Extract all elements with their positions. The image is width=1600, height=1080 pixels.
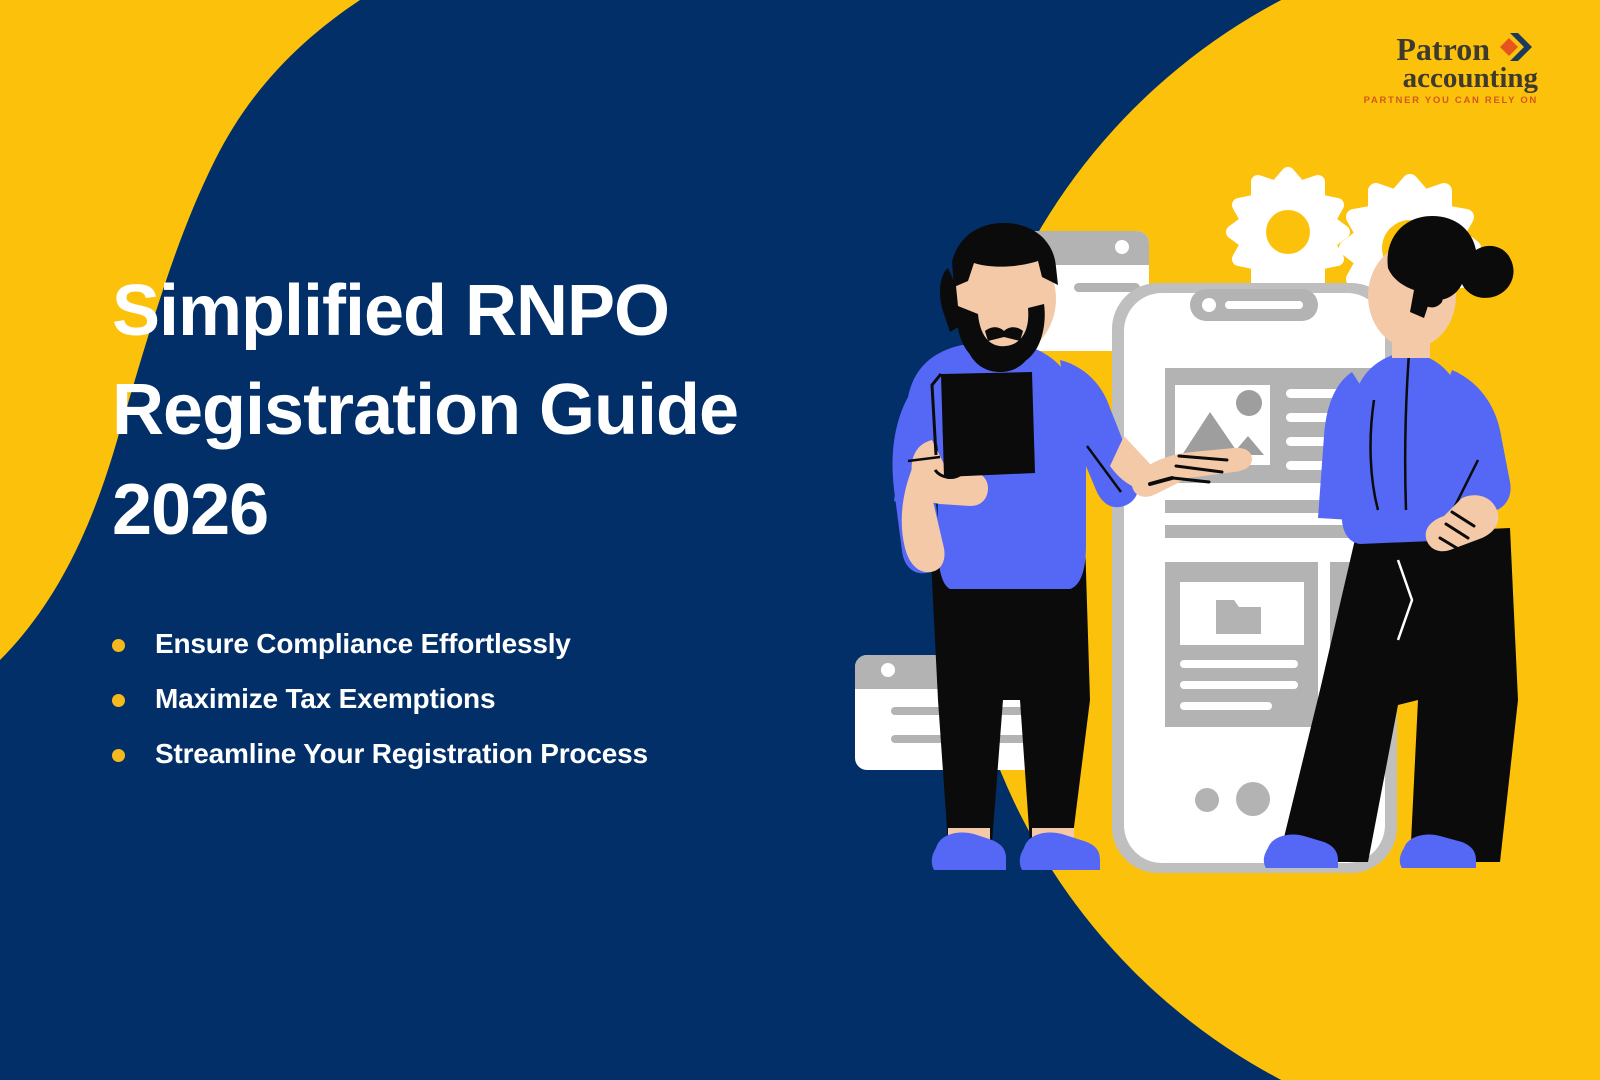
bullet-dot-icon	[112, 639, 125, 652]
list-item: Streamline Your Registration Process	[112, 738, 872, 770]
list-item-label: Streamline Your Registration Process	[155, 738, 648, 770]
hero-text-block: Simplified RNPO Registration Guide 2026 …	[112, 262, 872, 793]
bullet-dot-icon	[112, 694, 125, 707]
list-item: Maximize Tax Exemptions	[112, 683, 872, 715]
logo-word-accounting: accounting	[1364, 64, 1538, 93]
page-title: Simplified RNPO Registration Guide 2026	[112, 262, 872, 560]
poster-canvas: Simplified RNPO Registration Guide 2026 …	[0, 0, 1600, 1080]
logo-tagline: PARTNER YOU CAN RELY ON	[1364, 95, 1538, 106]
brand-logo[interactable]: Patron accounting PARTNER YOU CAN RELY O…	[1364, 34, 1538, 106]
list-item-label: Maximize Tax Exemptions	[155, 683, 495, 715]
list-item-label: Ensure Compliance Effortlessly	[155, 628, 571, 660]
list-item: Ensure Compliance Effortlessly	[112, 628, 872, 660]
chevron-arrow-icon	[1494, 32, 1538, 62]
logo-word-patron: Patron	[1396, 34, 1490, 64]
bullet-dot-icon	[112, 749, 125, 762]
logo-top-row: Patron	[1364, 34, 1538, 64]
benefits-list: Ensure Compliance Effortlessly Maximize …	[112, 628, 872, 770]
